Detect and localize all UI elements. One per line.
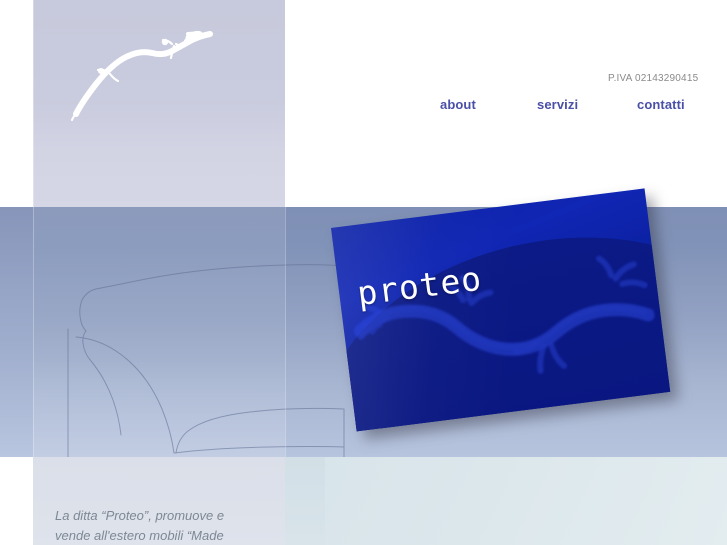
page-root: P.IVA 02143290415 about servizi contatti: [0, 0, 727, 545]
main-nav: about servizi contatti: [0, 97, 727, 117]
hero-banner[interactable]: proteo: [331, 188, 670, 431]
intro-paragraph: La ditta “Proteo”, promuove e vende all'…: [55, 506, 285, 545]
intro-line-2: vende all'estero mobili “Made: [55, 526, 285, 545]
footer-panel-right-sliver: [285, 457, 325, 545]
footer-panel-left: [0, 457, 33, 545]
hero-banner-card[interactable]: proteo: [331, 188, 670, 431]
intro-line-1: La ditta “Proteo”, promuove e: [55, 506, 285, 526]
footer-panel-right: [285, 457, 727, 545]
nav-link-about[interactable]: about: [440, 97, 476, 112]
nav-link-servizi[interactable]: servizi: [537, 97, 578, 112]
nav-link-contatti[interactable]: contatti: [637, 97, 685, 112]
vat-number: P.IVA 02143290415: [608, 73, 698, 84]
